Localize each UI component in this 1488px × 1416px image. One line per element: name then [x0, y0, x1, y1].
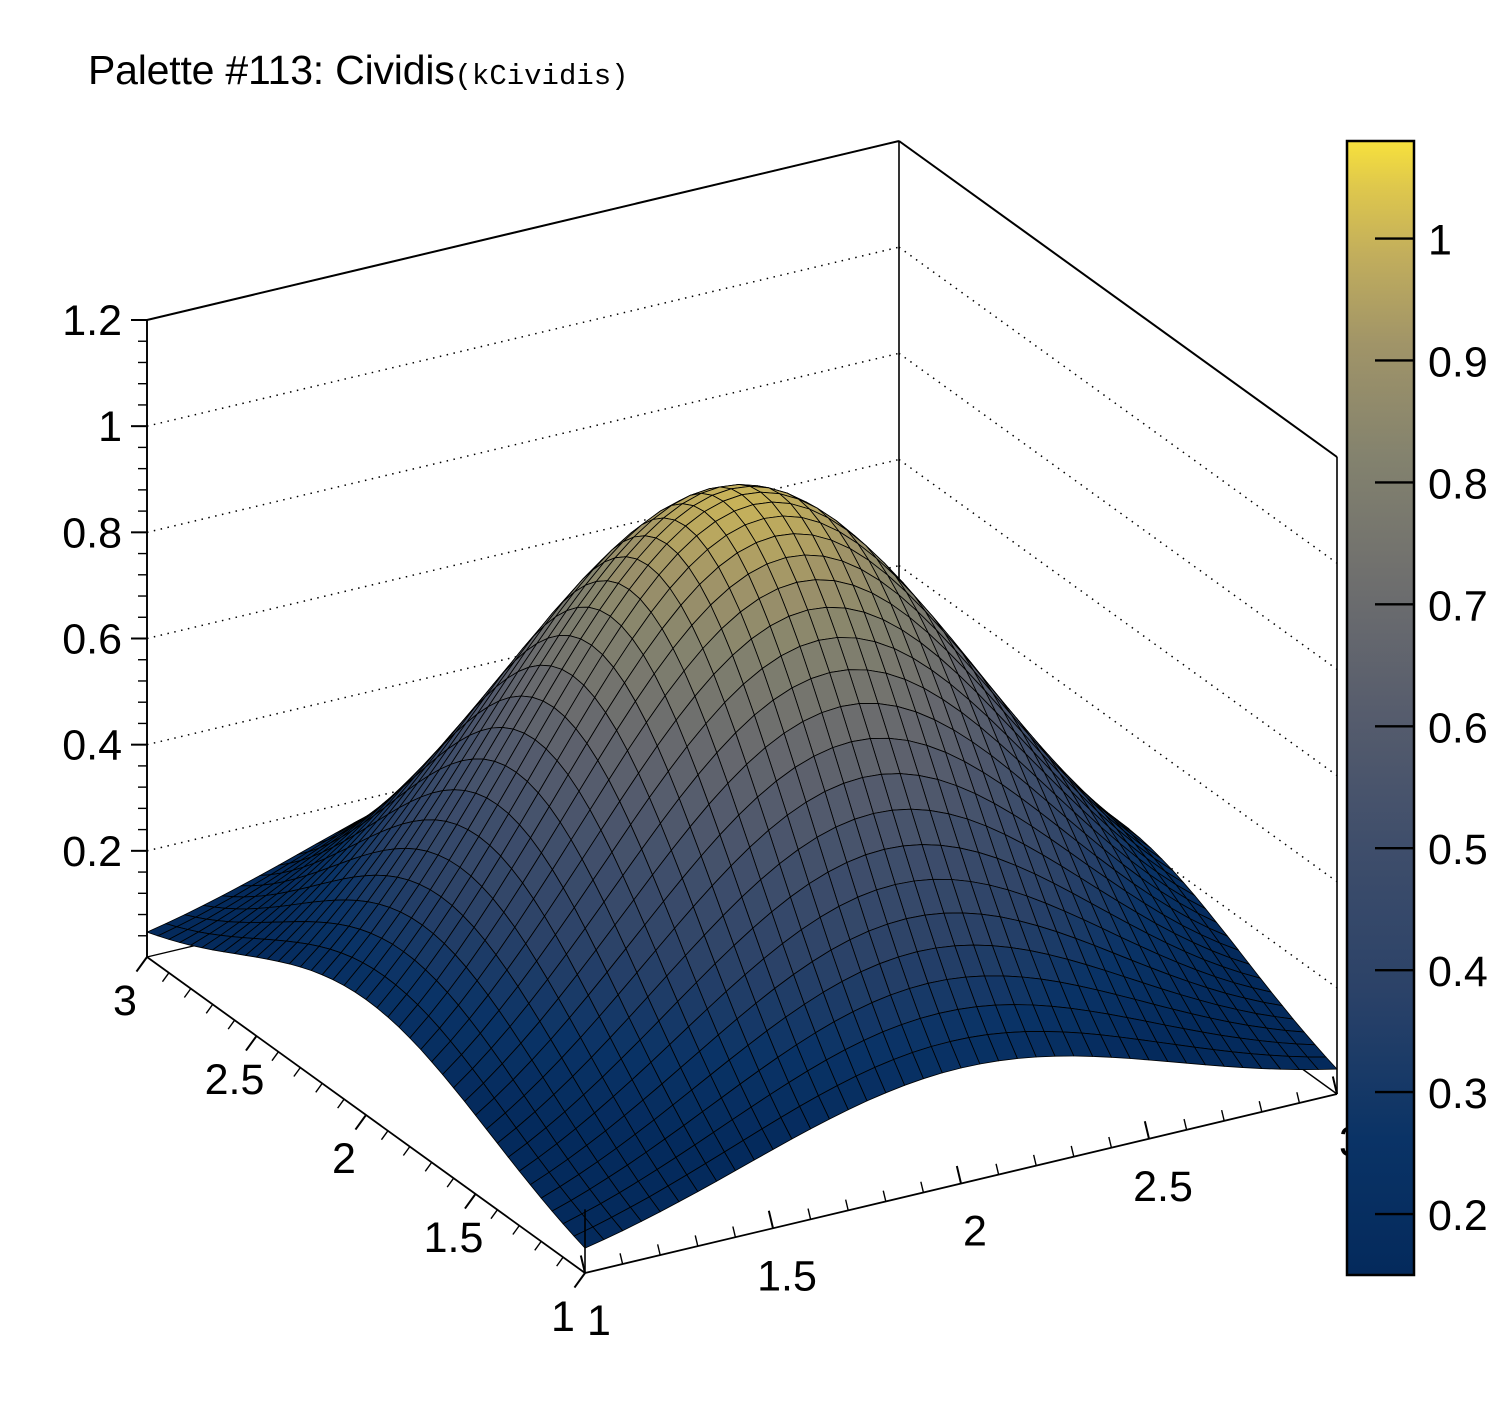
- colorbar-tick-labels: 10.90.80.70.60.50.40.30.2: [1428, 217, 1488, 1240]
- color-palette-axis[interactable]: 10.90.80.70.60.50.40.30.2: [1347, 141, 1488, 1275]
- y-axis-label-4: 1: [551, 1293, 575, 1341]
- x-axis-label-3: 2.5: [1133, 1163, 1193, 1211]
- surface-plot-svg: 1.210.80.60.40.232.521.5111.522.53 10.90…: [0, 0, 1488, 1416]
- z-axis-label-5: 0.2: [62, 828, 122, 876]
- colorbar-gradient[interactable]: [1347, 141, 1414, 1275]
- colorbar-label-3: 0.7: [1428, 582, 1488, 630]
- x-axis-label-2: 2: [963, 1208, 987, 1256]
- z-axis-label-2: 0.8: [62, 509, 122, 557]
- surface-mesh: [147, 484, 1337, 1248]
- y-axis-label-2: 2: [332, 1135, 356, 1183]
- plot-title-subtitle: (kCividis): [455, 60, 629, 93]
- colorbar-label-0: 1: [1428, 217, 1452, 265]
- colorbar-label-5: 0.5: [1428, 826, 1488, 874]
- y-axis-label-3: 1.5: [424, 1214, 484, 1262]
- plot-title: Palette #113: Cividis(kCividis): [88, 47, 629, 94]
- plot-canvas: Palette #113: Cividis(kCividis) 1.210.80…: [0, 0, 1488, 1416]
- colorbar-label-7: 0.3: [1428, 1070, 1488, 1118]
- y-axis-label-0: 3: [113, 977, 137, 1025]
- colorbar-label-1: 0.9: [1428, 338, 1488, 386]
- colorbar-label-4: 0.6: [1428, 704, 1488, 752]
- z-axis-label-3: 0.6: [62, 616, 122, 664]
- colorbar-label-2: 0.8: [1428, 460, 1488, 508]
- z-axis-label-1: 1: [98, 403, 122, 451]
- plot-title-main: Palette #113: Cividis: [88, 47, 455, 93]
- y-axis-label-1: 2.5: [205, 1056, 265, 1104]
- z-axis-label-0: 1.2: [62, 297, 122, 345]
- colorbar-label-6: 0.4: [1428, 948, 1488, 996]
- z-axis-label-4: 0.4: [62, 722, 122, 770]
- x-axis-label-1: 1.5: [757, 1252, 817, 1300]
- colorbar-label-8: 0.2: [1428, 1192, 1488, 1240]
- x-axis-label-0: 1: [587, 1297, 611, 1345]
